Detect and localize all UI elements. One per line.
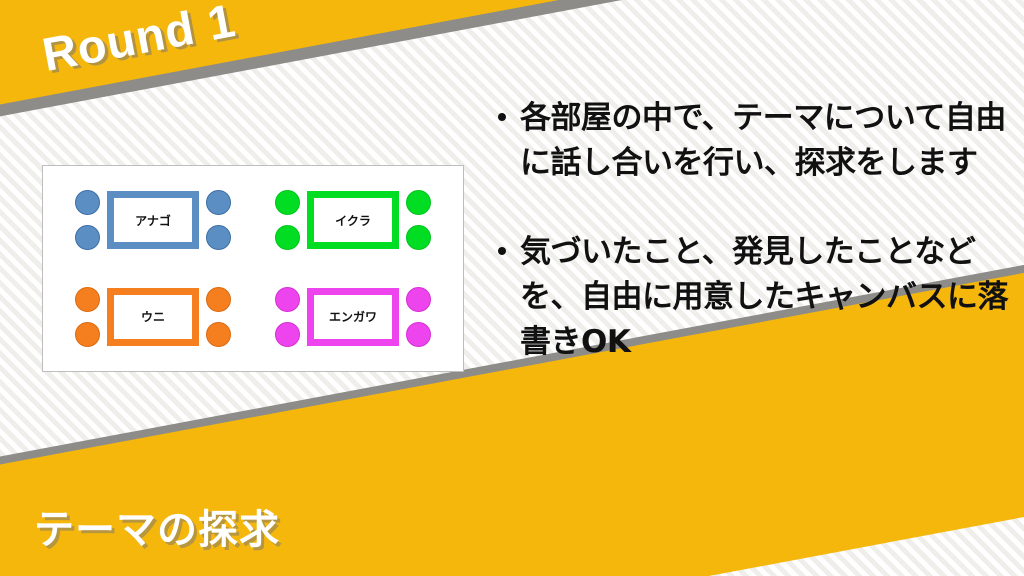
bullet-list: 各部屋の中で、テーマについて自由に話し合いを行い、探求をします 気づいたこと、発… [498,96,1008,409]
seat-column-left [275,287,300,347]
room-label: エンガワ [329,308,377,325]
bullet-text: 気づいたこと、発見したことなどを、自由に用意したキャンバスに落書きOK [520,230,1008,365]
room-group-anago: アナゴ [53,172,253,269]
bullet-dot-icon [498,247,506,255]
room-box-anago: アナゴ [107,191,199,249]
participant-seat-icon [206,322,231,347]
participant-seat-icon [206,190,231,215]
participant-seat-icon [206,225,231,250]
room-group-engawa: エンガワ [253,269,453,366]
room-label: ウニ [141,308,165,325]
participant-seat-icon [75,225,100,250]
seat-column-right [206,287,231,347]
seat-column-right [406,287,431,347]
participant-seat-icon [275,225,300,250]
participant-seat-icon [275,190,300,215]
slide-canvas: Round 1 テーマの探求 アナゴ [0,0,1024,576]
list-item: 各部屋の中で、テーマについて自由に話し合いを行い、探求をします [498,96,1008,186]
breakout-rooms-diagram: アナゴ イクラ [42,165,464,372]
room-box-ikura: イクラ [307,191,399,249]
participant-seat-icon [406,190,431,215]
seat-column-left [75,190,100,250]
room-box-uni: ウニ [107,288,199,346]
bullet-text: 各部屋の中で、テーマについて自由に話し合いを行い、探求をします [520,96,1008,186]
participant-seat-icon [75,287,100,312]
room-group-uni: ウニ [53,269,253,366]
participant-seat-icon [206,287,231,312]
participant-seat-icon [406,287,431,312]
seat-column-right [406,190,431,250]
room-label: イクラ [335,212,371,229]
participant-seat-icon [75,322,100,347]
seat-column-right [206,190,231,250]
participant-seat-icon [275,322,300,347]
seat-column-left [275,190,300,250]
bullet-dot-icon [498,113,506,121]
footer-title: テーマの探求 [34,497,280,555]
seat-column-left [75,287,100,347]
participant-seat-icon [406,322,431,347]
participant-seat-icon [275,287,300,312]
room-label: アナゴ [135,212,171,229]
participant-seat-icon [406,225,431,250]
participant-seat-icon [75,190,100,215]
room-group-ikura: イクラ [253,172,453,269]
list-item: 気づいたこと、発見したことなどを、自由に用意したキャンバスに落書きOK [498,230,1008,365]
room-box-engawa: エンガワ [307,288,399,346]
